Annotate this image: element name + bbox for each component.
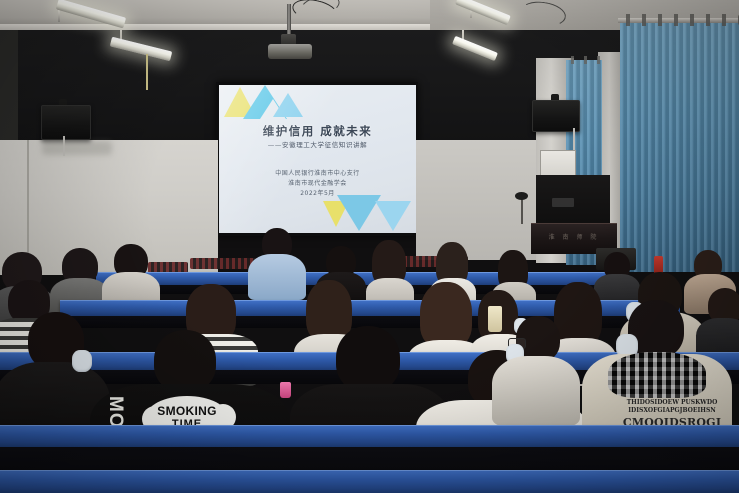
upper-wall-left-edge xyxy=(0,30,18,142)
slide-org-line-3: 2022年5月 xyxy=(219,189,416,199)
slide-triangle-blue-bottom xyxy=(375,201,411,231)
wall-smudge xyxy=(42,141,112,155)
curtain-hooks-inner xyxy=(566,56,602,64)
drink-cup xyxy=(488,306,502,332)
microphone-stand xyxy=(521,198,523,224)
wall-speaker-left xyxy=(41,105,91,140)
slide-triangle-blue-top xyxy=(273,93,303,117)
projector-icon xyxy=(268,44,312,59)
center-wall xyxy=(416,140,536,260)
torso xyxy=(248,254,306,300)
desk-row-foreground-lip xyxy=(0,470,739,493)
slide-org-line-2: 淮南市现代金融学会 xyxy=(219,179,416,189)
head xyxy=(154,330,216,392)
window-curtain-main xyxy=(620,22,739,272)
podium-label: 淮 南 师 院 xyxy=(531,232,617,241)
speaker-cable-left xyxy=(63,136,65,156)
head xyxy=(336,326,400,392)
podium-monitor xyxy=(552,198,574,207)
desk-row-foreground xyxy=(0,425,739,448)
torso xyxy=(492,356,580,426)
slide-organization-block: 中国人民银行淮南市中心支行 淮南市现代金融学会 2022年5月 xyxy=(219,169,416,199)
projection-screen: 维护信用 成就未来 ——安徽理工大学征信知识讲解 中国人民银行淮南市中心支行 淮… xyxy=(219,85,416,233)
plaid-scarf xyxy=(608,352,706,398)
shirt-text-line1: SMOKING xyxy=(148,404,226,418)
lamp-stem-2b xyxy=(146,54,148,90)
lecture-hall-photo: 维护信用 成就未来 ——安徽理工大学征信知识讲解 中国人民银行淮南市中心支行 淮… xyxy=(0,0,739,493)
hair xyxy=(554,282,602,346)
pink-bottle xyxy=(280,382,291,398)
lamp-stem-1 xyxy=(58,10,60,22)
face-mask xyxy=(72,350,92,372)
slide-title: 维护信用 成就未来 xyxy=(219,123,416,139)
wall-seam xyxy=(27,140,29,268)
hair xyxy=(420,282,472,348)
slide-subtitle: ——安徽理工大学征信知识讲解 xyxy=(219,139,416,149)
hair xyxy=(306,280,352,342)
slide-org-line-1: 中国人民银行淮南市中心支行 xyxy=(219,169,416,179)
curtain-rings xyxy=(620,14,739,26)
hoodie-text-line1: THIDOSIDOEW PUSKWDO xyxy=(612,400,732,406)
hoodie-text-line2: IDISXOFGIAPGJBOEIHSN xyxy=(612,408,732,414)
microphone-icon xyxy=(515,192,528,200)
